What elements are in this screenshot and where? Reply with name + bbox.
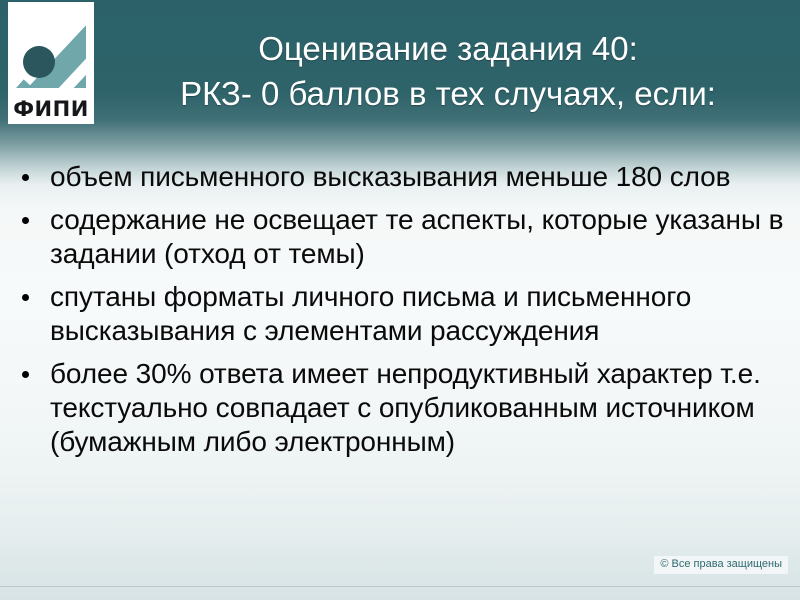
list-item: более 30% ответа имеет непродуктивный ха… <box>14 357 789 459</box>
slide-title: Оценивание задания 40: РКЗ- 0 баллов в т… <box>104 26 792 116</box>
list-item: спутаны форматы личного письма и письмен… <box>14 280 789 348</box>
logo-wordmark: ФИПИ <box>8 99 94 120</box>
slide-title-line-1: Оценивание задания 40: <box>104 26 792 71</box>
presentation-slide: ФИПИ Оценивание задания 40: РКЗ- 0 балло… <box>0 0 800 600</box>
logo-circle-shape <box>23 46 55 78</box>
slide-title-line-2: РКЗ- 0 баллов в тех случаях, если: <box>104 71 792 116</box>
slide-bullet-list: объем письменного высказывания меньше 18… <box>14 160 789 468</box>
list-item: объем письменного высказывания меньше 18… <box>14 160 789 194</box>
fipi-logo: ФИПИ <box>8 2 94 124</box>
footer-divider <box>0 586 800 587</box>
fipi-logo-mark-icon <box>16 10 86 88</box>
list-item: содержание не освещает те аспекты, котор… <box>14 203 789 271</box>
copyright-badge: © Все права защищены <box>654 556 788 574</box>
